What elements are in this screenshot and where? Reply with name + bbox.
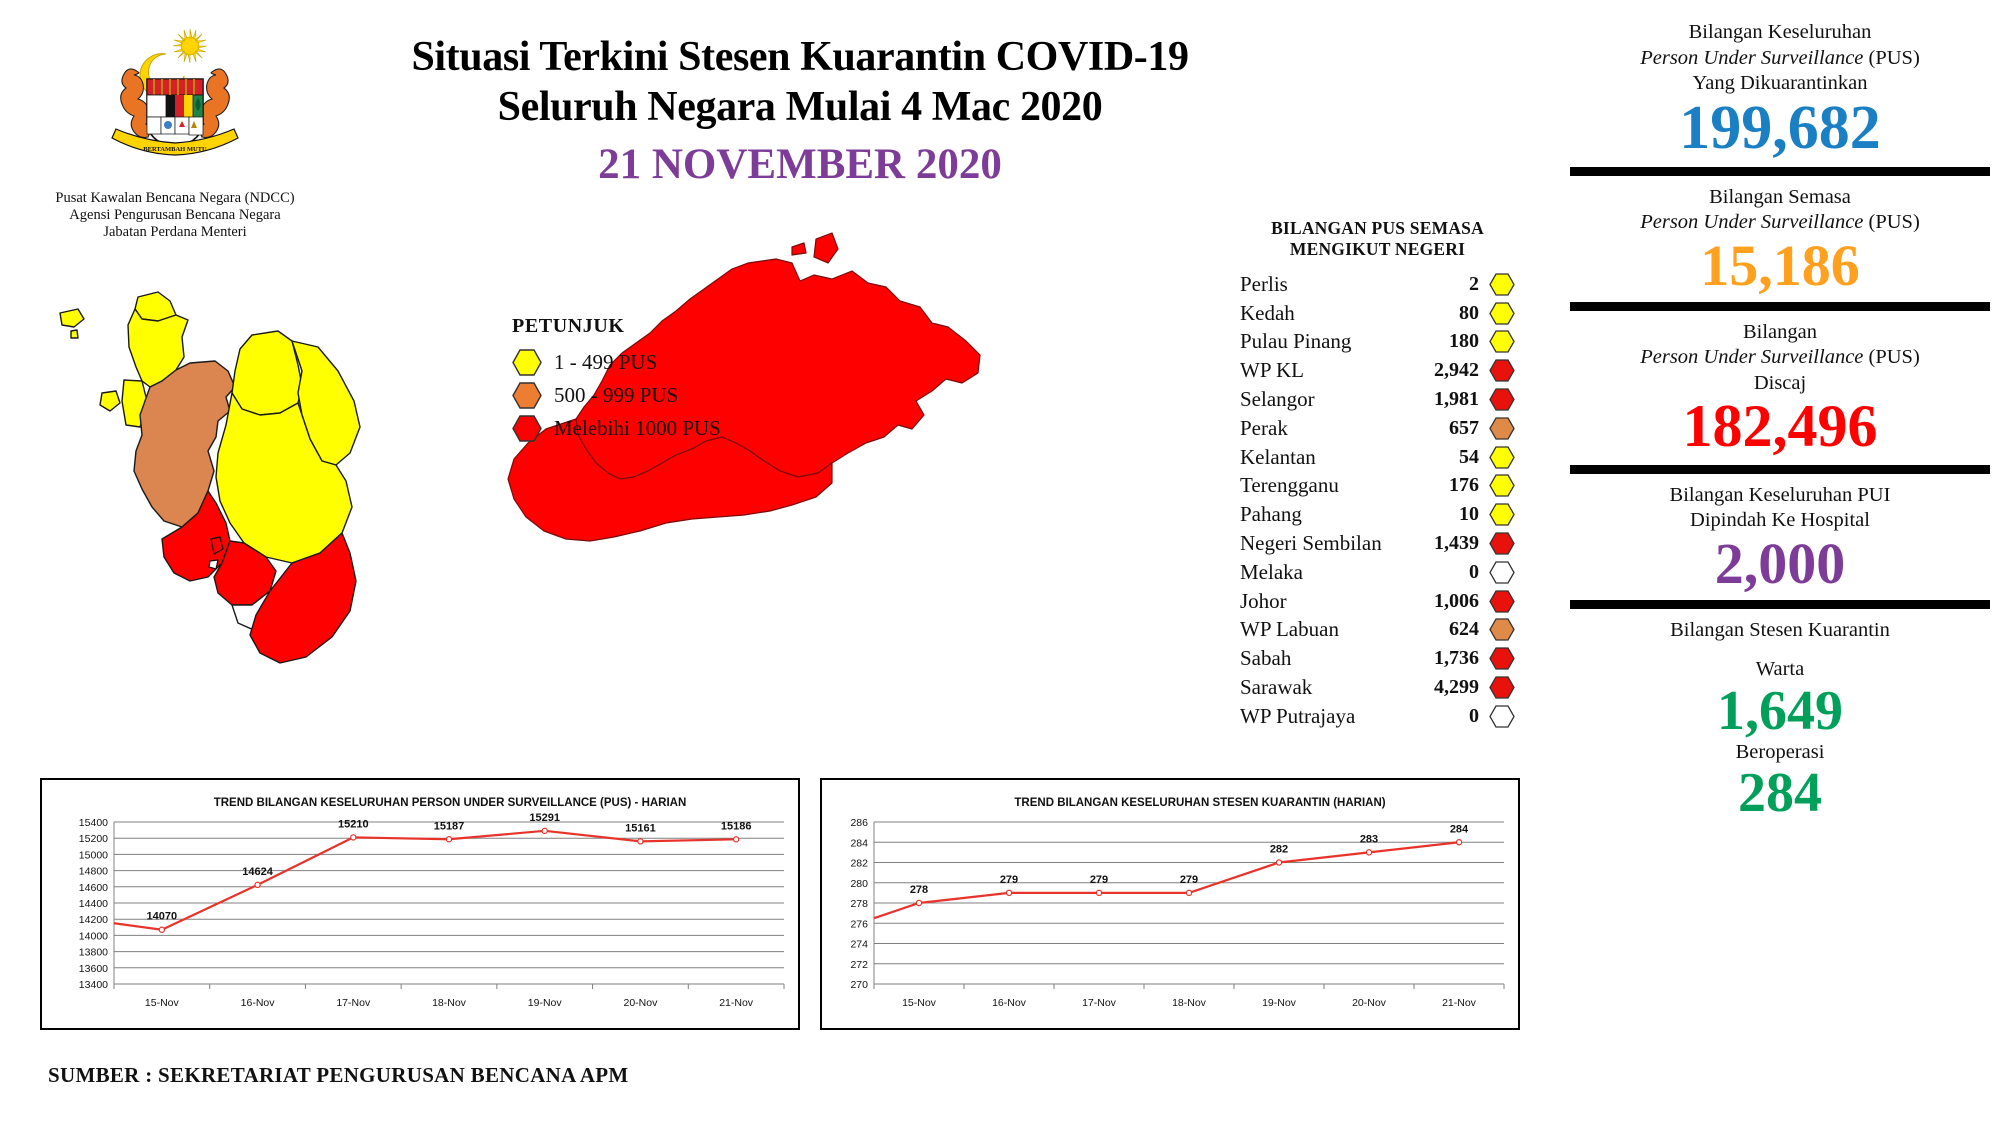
svg-text:17-Nov: 17-Nov	[1082, 997, 1117, 1009]
title-line-2: Seluruh Negara Mulai 4 Mac 2020	[300, 82, 1300, 132]
divider	[1570, 465, 1990, 474]
status-hexagon-icon	[1489, 359, 1515, 382]
state-row: Johor1,006	[1240, 587, 1515, 616]
state-name: Negeri Sembilan	[1240, 531, 1434, 556]
svg-text:278: 278	[850, 898, 868, 910]
chart-pus-trend: TREND BILANGAN KESELURUHAN PERSON UNDER …	[40, 778, 800, 1030]
svg-text:15291: 15291	[529, 812, 560, 824]
state-row: Negeri Sembilan1,439	[1240, 529, 1515, 558]
legend-item-yellow: 1 - 499 PUS	[512, 347, 812, 377]
svg-text:272: 272	[850, 959, 868, 971]
svg-text:279: 279	[1090, 874, 1108, 886]
status-hexagon-icon	[1489, 676, 1515, 699]
svg-text:BERTAMBAH MUTU: BERTAMBAH MUTU	[143, 146, 207, 153]
svg-text:14600: 14600	[79, 882, 108, 894]
map-island-small	[792, 243, 806, 255]
state-name: Johor	[1240, 589, 1434, 614]
state-row: Kelantan54	[1240, 443, 1515, 472]
source-footer: SUMBER : SEKRETARIAT PENGURUSAN BENCANA …	[48, 1063, 629, 1088]
state-name: Pahang	[1240, 502, 1459, 527]
state-row: Melaka0	[1240, 558, 1515, 587]
summary-stats-rail: Bilangan KeseluruhanPerson Under Surveil…	[1570, 20, 1990, 822]
stat-label-paren: (PUS)	[1863, 346, 1919, 368]
svg-text:14200: 14200	[79, 914, 108, 926]
status-hexagon-icon	[1489, 302, 1515, 325]
svg-text:274: 274	[850, 939, 868, 951]
stat-label: Bilangan SemasaPerson Under Surveillance…	[1570, 185, 1990, 236]
page-title: Situasi Terkini Stesen Kuarantin COVID-1…	[300, 32, 1300, 194]
svg-text:284: 284	[1450, 823, 1469, 835]
svg-text:15161: 15161	[625, 822, 656, 834]
status-hexagon-icon	[1489, 330, 1515, 353]
stat-label-line-2: Person Under Surveillance (PUS)	[1570, 345, 1990, 371]
status-hexagon-icon	[1489, 618, 1515, 641]
svg-text:14800: 14800	[79, 866, 108, 878]
state-value: 624	[1449, 618, 1489, 641]
stat-label-line-2: Person Under Surveillance (PUS)	[1570, 210, 1990, 236]
state-value: 0	[1469, 561, 1489, 584]
legend-label-1: 1 - 499 PUS	[554, 350, 657, 375]
status-hexagon-icon	[1489, 532, 1515, 555]
svg-text:15400: 15400	[79, 817, 108, 829]
peninsular-malaysia-map	[30, 275, 400, 695]
svg-text:283: 283	[1360, 833, 1378, 845]
map-island-langkawi	[60, 309, 84, 327]
state-heading-line-1: BILANGAN PUS SEMASA	[1240, 218, 1515, 239]
stat-label-italic: Person Under Surveillance	[1640, 211, 1863, 233]
state-row: Selangor1,981	[1240, 385, 1515, 414]
agency-line-2: Agensi Pengurusan Bencana Negara	[40, 207, 310, 224]
quarantine-stations-block: Bilangan Stesen KuarantinWarta1,649Berop…	[1570, 618, 1990, 823]
state-row: WP KL2,942	[1240, 356, 1515, 385]
state-name: Melaka	[1240, 560, 1469, 585]
state-name: Pulau Pinang	[1240, 329, 1449, 354]
stat-value: 199,682	[1570, 97, 1990, 160]
stat-label-paren: (PUS)	[1863, 211, 1919, 233]
svg-text:20-Nov: 20-Nov	[623, 997, 658, 1009]
state-heading-line-2: MENGIKUT NEGERI	[1240, 239, 1515, 260]
legend-item-orange: 500 - 999 PUS	[512, 380, 812, 410]
state-name: WP Putrajaya	[1240, 704, 1469, 729]
stat-label-italic: Person Under Surveillance	[1640, 346, 1863, 368]
stat-label: Bilangan Keseluruhan PUIDipindah Ke Hosp…	[1570, 483, 1990, 534]
svg-text:13800: 13800	[79, 947, 108, 959]
svg-text:16-Nov: 16-Nov	[241, 997, 276, 1009]
stat-label-line-1: Bilangan Keseluruhan PUI	[1570, 483, 1990, 509]
state-name: Kedah	[1240, 301, 1459, 326]
status-hexagon-icon	[1489, 446, 1515, 469]
svg-text:18-Nov: 18-Nov	[432, 997, 467, 1009]
state-value: 176	[1449, 474, 1489, 497]
svg-text:15-Nov: 15-Nov	[902, 997, 937, 1009]
status-hexagon-icon	[1489, 705, 1515, 728]
svg-text:280: 280	[850, 878, 868, 890]
svg-text:TREND BILANGAN KESELURUHAN STE: TREND BILANGAN KESELURUHAN STESEN KUARAN…	[1014, 797, 1385, 809]
svg-text:284: 284	[850, 837, 868, 849]
status-hexagon-icon	[1489, 417, 1515, 440]
report-date: 21 NOVEMBER 2020	[300, 136, 1300, 194]
state-value: 657	[1449, 417, 1489, 440]
svg-text:15000: 15000	[79, 849, 108, 861]
state-pus-table: BILANGAN PUS SEMASA MENGIKUT NEGERI Perl…	[1240, 218, 1515, 731]
state-value: 1,736	[1434, 647, 1489, 670]
state-value: 4,299	[1434, 676, 1489, 699]
agency-caption: Pusat Kawalan Bencana Negara (NDCC) Agen…	[40, 190, 310, 241]
status-hexagon-icon	[1489, 561, 1515, 584]
svg-text:19-Nov: 19-Nov	[528, 997, 563, 1009]
divider	[1570, 167, 1990, 176]
state-row: Perlis2	[1240, 270, 1515, 299]
state-value: 1,439	[1434, 532, 1489, 555]
state-row: WP Labuan624	[1240, 616, 1515, 645]
state-row: Sabah1,736	[1240, 644, 1515, 673]
stat-block: Bilangan SemasaPerson Under Surveillance…	[1570, 185, 1990, 295]
stat-value: 15,186	[1570, 236, 1990, 295]
svg-text:279: 279	[1000, 874, 1018, 886]
state-value: 0	[1469, 705, 1489, 728]
state-row: Terengganu176	[1240, 472, 1515, 501]
map-legend: PETUNJUK 1 - 499 PUS 500 - 999 PUS Meleb…	[512, 315, 812, 446]
map-state-pulau-pinang	[100, 391, 120, 411]
svg-text:286: 286	[850, 817, 868, 829]
state-name: Sarawak	[1240, 675, 1434, 700]
svg-text:279: 279	[1180, 874, 1198, 886]
state-row: WP Putrajaya0	[1240, 702, 1515, 731]
quarantine-heading: Bilangan Stesen Kuarantin	[1570, 618, 1990, 644]
state-name: Kelantan	[1240, 445, 1459, 470]
state-name: Sabah	[1240, 646, 1434, 671]
legend-title: PETUNJUK	[512, 315, 812, 338]
agency-line-3: Jabatan Perdana Menteri	[40, 224, 310, 241]
title-line-1: Situasi Terkini Stesen Kuarantin COVID-1…	[300, 32, 1300, 82]
stat-label-italic: Person Under Surveillance	[1640, 47, 1863, 69]
status-hexagon-icon	[1489, 503, 1515, 526]
svg-text:17-Nov: 17-Nov	[336, 997, 371, 1009]
state-row: Perak657	[1240, 414, 1515, 443]
stat-label: BilanganPerson Under Surveillance (PUS)D…	[1570, 320, 1990, 397]
state-value: 2,942	[1434, 359, 1489, 382]
stat-label-paren: (PUS)	[1863, 47, 1919, 69]
svg-text:270: 270	[850, 979, 868, 991]
legend-label-2: 500 - 999 PUS	[554, 383, 678, 408]
svg-text:14070: 14070	[147, 911, 178, 923]
state-value: 10	[1459, 503, 1489, 526]
svg-text:13400: 13400	[79, 979, 108, 991]
stat-label-line-3: Yang Dikuarantinkan	[1570, 71, 1990, 97]
svg-text:20-Nov: 20-Nov	[1352, 997, 1387, 1009]
status-hexagon-icon	[1489, 647, 1515, 670]
stat-label-line-1: Bilangan Keseluruhan	[1570, 20, 1990, 46]
legend-item-red: Melebihi 1000 PUS	[512, 413, 812, 443]
agency-line-1: Pusat Kawalan Bencana Negara (NDCC)	[40, 190, 310, 207]
svg-text:14400: 14400	[79, 898, 108, 910]
svg-text:15186: 15186	[721, 820, 752, 832]
map-state-kelantan	[232, 331, 302, 415]
svg-text:21-Nov: 21-Nov	[719, 997, 754, 1009]
stat-label-line-1: Bilangan	[1570, 320, 1990, 346]
state-value: 1,981	[1434, 388, 1489, 411]
svg-text:15210: 15210	[338, 818, 369, 830]
malaysia-coat-of-arms: BERTAMBAH MUTU	[80, 24, 270, 164]
chart-stesen-trend: TREND BILANGAN KESELURUHAN STESEN KUARAN…	[820, 778, 1520, 1030]
divider	[1570, 302, 1990, 311]
stat-label-line-1: Bilangan Semasa	[1570, 185, 1990, 211]
svg-text:13600: 13600	[79, 963, 108, 975]
svg-text:21-Nov: 21-Nov	[1442, 997, 1477, 1009]
legend-label-3: Melebihi 1000 PUS	[554, 416, 721, 441]
hexagon-swatch-icon	[512, 415, 542, 442]
state-table-heading: BILANGAN PUS SEMASA MENGIKUT NEGERI	[1240, 218, 1515, 260]
svg-text:14624: 14624	[242, 866, 273, 878]
svg-text:14000: 14000	[79, 930, 108, 942]
divider	[1570, 600, 1990, 609]
status-hexagon-icon	[1489, 388, 1515, 411]
state-value: 2	[1469, 273, 1489, 296]
svg-text:16-Nov: 16-Nov	[992, 997, 1027, 1009]
state-row: Pahang10	[1240, 500, 1515, 529]
svg-text:276: 276	[850, 918, 868, 930]
state-name: Perlis	[1240, 272, 1469, 297]
status-hexagon-icon	[1489, 273, 1515, 296]
stat-label-line-3: Dipindah Ke Hospital	[1570, 508, 1990, 534]
state-row: Sarawak4,299	[1240, 673, 1515, 702]
warta-label: Warta	[1570, 657, 1990, 683]
status-hexagon-icon	[1489, 474, 1515, 497]
state-value: 54	[1459, 446, 1489, 469]
status-hexagon-icon	[1489, 590, 1515, 613]
state-name: Terengganu	[1240, 473, 1449, 498]
state-value: 180	[1449, 330, 1489, 353]
state-row: Pulau Pinang180	[1240, 328, 1515, 357]
hexagon-swatch-icon	[512, 382, 542, 409]
stat-value: 2,000	[1570, 534, 1990, 593]
hexagon-swatch-icon	[512, 349, 542, 376]
svg-text:278: 278	[910, 884, 928, 896]
state-name: WP Labuan	[1240, 617, 1449, 642]
beroperasi-value: 284	[1570, 765, 1990, 822]
svg-text:TREND BILANGAN KESELURUHAN PER: TREND BILANGAN KESELURUHAN PERSON UNDER …	[214, 797, 687, 809]
state-value: 1,006	[1434, 590, 1489, 613]
map-state-wp-putrajaya	[209, 560, 218, 569]
svg-text:282: 282	[1270, 844, 1288, 856]
stat-block: BilanganPerson Under Surveillance (PUS)D…	[1570, 320, 1990, 458]
stat-block: Bilangan Keseluruhan PUIDipindah Ke Hosp…	[1570, 483, 1990, 593]
state-row: Kedah80	[1240, 299, 1515, 328]
svg-text:15-Nov: 15-Nov	[145, 997, 180, 1009]
stat-label: Bilangan KeseluruhanPerson Under Surveil…	[1570, 20, 1990, 97]
svg-text:18-Nov: 18-Nov	[1172, 997, 1207, 1009]
stat-block: Bilangan KeseluruhanPerson Under Surveil…	[1570, 20, 1990, 160]
state-name: WP KL	[1240, 358, 1434, 383]
state-value: 80	[1459, 302, 1489, 325]
stat-value: 182,496	[1570, 396, 1990, 457]
svg-text:282: 282	[850, 858, 868, 870]
svg-text:15187: 15187	[434, 820, 465, 832]
map-state-wp-labuan	[814, 233, 838, 263]
warta-value: 1,649	[1570, 683, 1990, 740]
state-name: Perak	[1240, 416, 1449, 441]
svg-text:19-Nov: 19-Nov	[1262, 997, 1297, 1009]
svg-text:15200: 15200	[79, 833, 108, 845]
map-island-langkawi-2	[71, 330, 78, 338]
stat-label-line-2: Person Under Surveillance (PUS)	[1570, 46, 1990, 72]
state-name: Selangor	[1240, 387, 1434, 412]
